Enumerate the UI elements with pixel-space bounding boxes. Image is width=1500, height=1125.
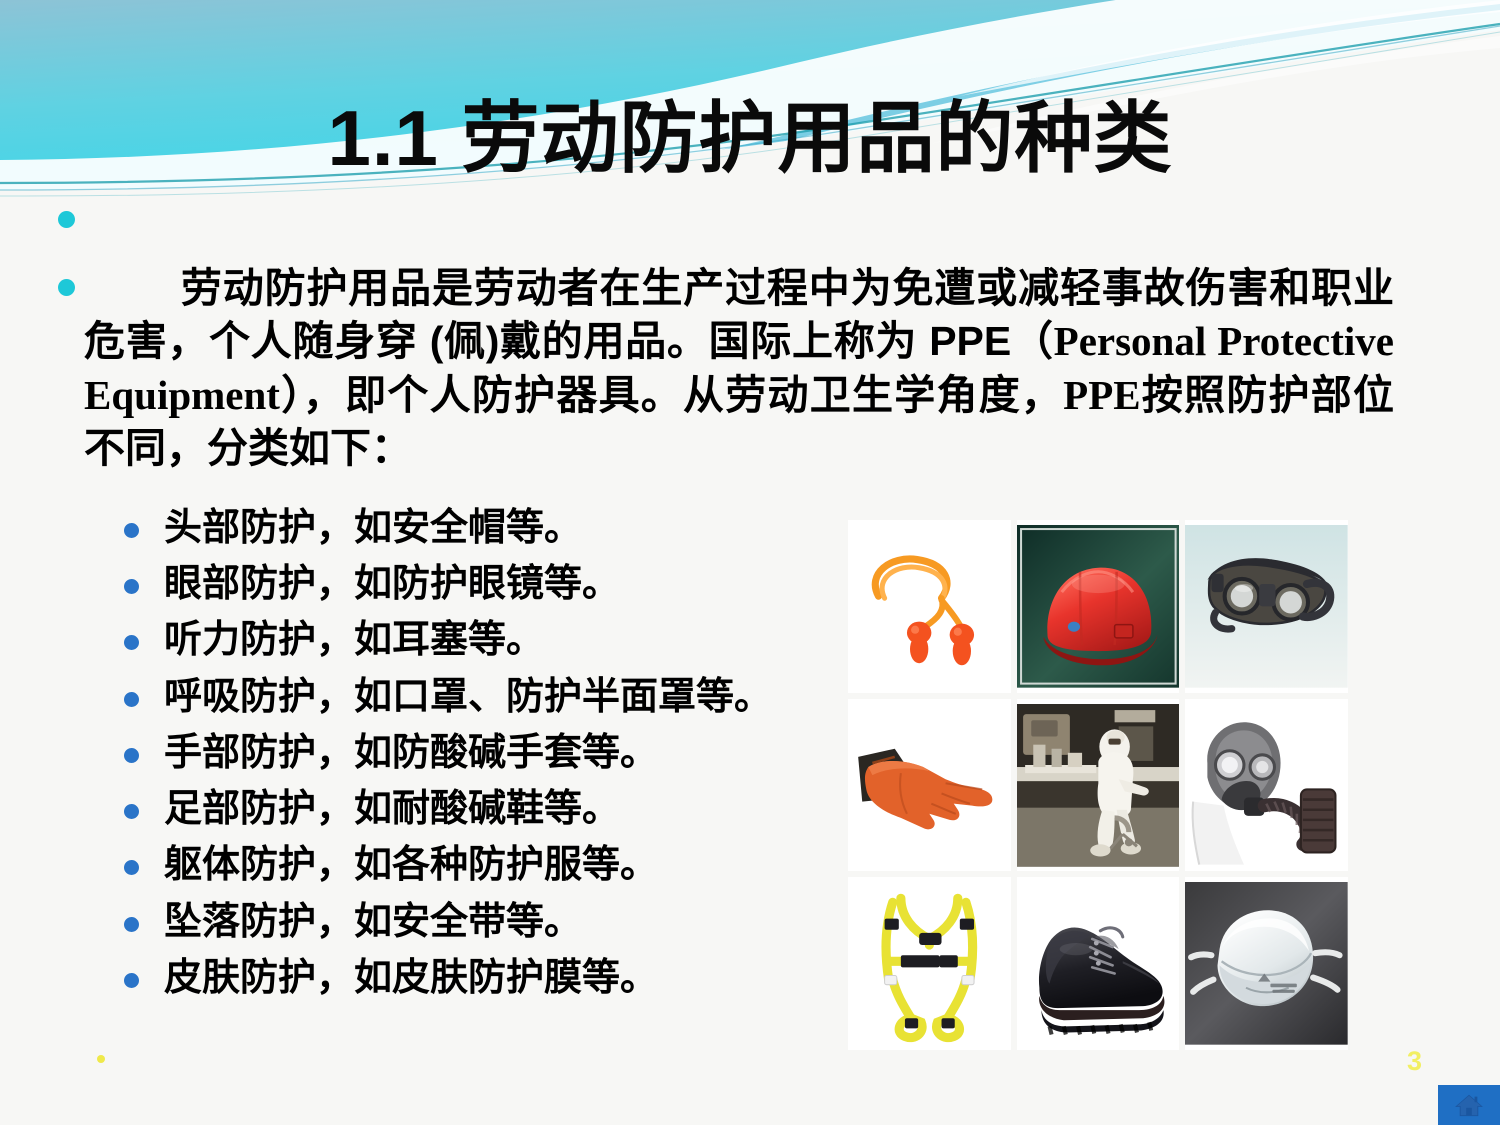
list-item-label: 眼部防护，如防护眼镜等。 [164,563,620,605]
list-item: 眼部防护，如防护眼镜等。 [118,556,838,612]
welding-goggles-illustration [1185,520,1348,693]
safety-harness-illustration [848,877,1011,1050]
bullet-dot-icon [124,523,139,538]
bullet-dot-icon [124,860,139,875]
protective-suit-illustration [1017,699,1180,872]
hard-hat-illustration [1017,520,1180,693]
welding-glove-illustration [848,699,1011,872]
list-item: 足部防护，如耐酸碱鞋等。 [118,781,838,837]
earplugs-photo [848,520,1011,693]
bullet-dot-icon [124,635,139,650]
bullet-dot-icon [124,748,139,763]
list-item-label: 头部防护，如安全帽等。 [164,507,582,549]
dust-mask-photo [1185,877,1348,1050]
welding-glove-photo [848,699,1011,872]
list-item: 躯体防护，如各种防护服等。 [118,837,838,893]
bullet-dot-icon [124,804,139,819]
safety-shoe-photo [1017,877,1180,1050]
welding-goggles-photo [1185,520,1348,693]
teal-bullet-empty-line [58,211,75,228]
safety-shoe-illustration [1017,877,1180,1050]
paragraph-line-4: 卫生学角度， [810,372,1063,418]
earplugs-illustration [848,520,1011,693]
list-item-label: 手部防护，如防酸碱手套等。 [164,732,658,774]
list-item: 坠落防护，如安全带等。 [118,894,838,950]
gas-mask-illustration [1185,699,1348,872]
home-button[interactable] [1438,1085,1500,1125]
page-number: 3 [1407,1046,1422,1077]
teal-bullet-paragraph [58,279,75,296]
protective-suit-photo [1017,699,1180,872]
list-item: 呼吸防护，如口罩、防护半面罩等。 [118,669,838,725]
dust-mask-illustration [1185,877,1348,1050]
list-item-label: 坠落防护，如安全带等。 [164,901,582,943]
paragraph-line-1: 劳动防护用品是劳动者在生产过程中为免遭或减轻事故伤 [180,265,1227,311]
ppe-abbrev: PPE [1063,372,1140,418]
list-item: 皮肤防护，如皮肤防护膜等。 [118,950,838,1006]
decorative-corner-dot [97,1055,105,1063]
list-item: 头部防护，如安全帽等。 [118,500,838,556]
list-item-label: 皮肤防护，如皮肤防护膜等。 [164,957,658,999]
safety-harness-photo [848,877,1011,1050]
slide-title: 1.1 劳动防护用品的种类 [0,98,1500,180]
list-item-label: 躯体防护，如各种防护服等。 [164,844,658,886]
list-item-label: 足部防护，如耐酸碱鞋等。 [164,788,620,830]
bullet-dot-icon [124,917,139,932]
hard-hat-photo [1017,520,1180,693]
list-item-label: 呼吸防护，如口罩、防护半面罩等。 [164,676,772,718]
list-item-label: 听力防护，如耳塞等。 [164,619,544,661]
intro-paragraph: 劳动防护用品是劳动者在生产过程中为免遭或减轻事故伤害和职业危害，个人随身穿 (佩… [84,262,1394,475]
ppe-image-grid [848,520,1348,1050]
list-item: 听力防护，如耳塞等。 [118,612,838,668]
home-icon [1454,1092,1484,1118]
bullet-dot-icon [124,579,139,594]
list-item: 手部防护，如防酸碱手套等。 [118,725,838,781]
ppe-classification-list: 头部防护，如安全帽等。 眼部防护，如防护眼镜等。 听力防护，如耳塞等。 呼吸防护… [118,500,838,1006]
paragraph-line-3-tail: ），即个人防护器具。从劳动 [280,372,810,418]
bullet-dot-icon [124,973,139,988]
bullet-dot-icon [124,692,139,707]
gas-mask-photo [1185,699,1348,872]
